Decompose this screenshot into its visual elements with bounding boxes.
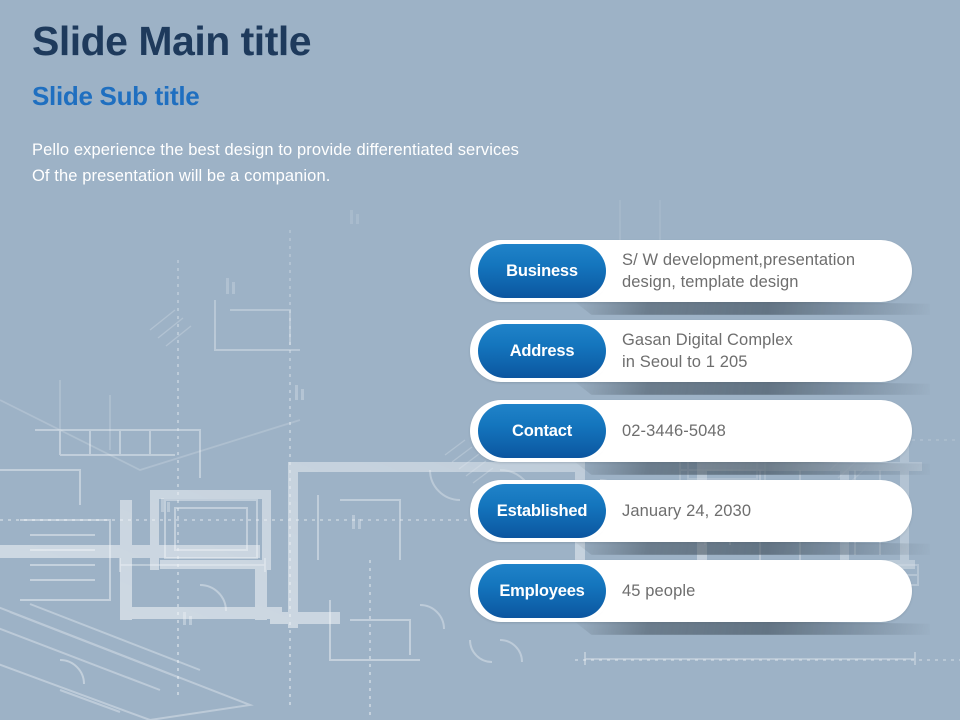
title-block: Slide Main title Slide Sub title Pello e… — [32, 18, 732, 189]
row-label-pill: Address — [478, 324, 606, 378]
row-label-pill: Contact — [478, 404, 606, 458]
row-value-line-1: S/ W development,presentation — [622, 249, 904, 271]
intro-line-1: Pello experience the best design to prov… — [32, 138, 732, 164]
row-label-pill: Established — [478, 484, 606, 538]
row-label-text: Established — [497, 503, 587, 520]
row-value-line-2: design, template design — [622, 271, 904, 293]
company-info-list: Business S/ W development,presentation d… — [470, 240, 930, 640]
row-label-text: Address — [510, 343, 575, 360]
list-item[interactable]: Established January 24, 2030 — [470, 480, 930, 560]
row-value: Gasan Digital Complex in Seoul to 1 205 — [622, 320, 904, 382]
list-item[interactable]: Contact 02-3446-5048 — [470, 400, 930, 480]
intro-paragraph: Pello experience the best design to prov… — [32, 138, 732, 189]
row-value: 02-3446-5048 — [622, 400, 904, 462]
row-value: 45 people — [622, 560, 904, 622]
page-title: Slide Main title — [32, 18, 732, 65]
row-label-text: Contact — [512, 423, 572, 440]
row-label-pill: Employees — [478, 564, 606, 618]
row-label-text: Employees — [499, 583, 584, 600]
row-value: January 24, 2030 — [622, 480, 904, 542]
page-subtitle: Slide Sub title — [32, 81, 732, 112]
row-label-pill: Business — [478, 244, 606, 298]
slide-canvas: Slide Main title Slide Sub title Pello e… — [0, 0, 960, 720]
row-value-line-1: January 24, 2030 — [622, 500, 904, 522]
row-value-line-2: in Seoul to 1 205 — [622, 351, 904, 373]
list-item[interactable]: Employees 45 people — [470, 560, 930, 640]
row-value-line-1: 45 people — [622, 580, 904, 602]
row-value-line-1: Gasan Digital Complex — [622, 329, 904, 351]
row-value-line-1: 02-3446-5048 — [622, 420, 904, 442]
list-item[interactable]: Address Gasan Digital Complex in Seoul t… — [470, 320, 930, 400]
list-item[interactable]: Business S/ W development,presentation d… — [470, 240, 930, 320]
row-value: S/ W development,presentation design, te… — [622, 240, 904, 302]
intro-line-2: Of the presentation will be a companion. — [32, 164, 732, 190]
row-label-text: Business — [506, 263, 578, 280]
